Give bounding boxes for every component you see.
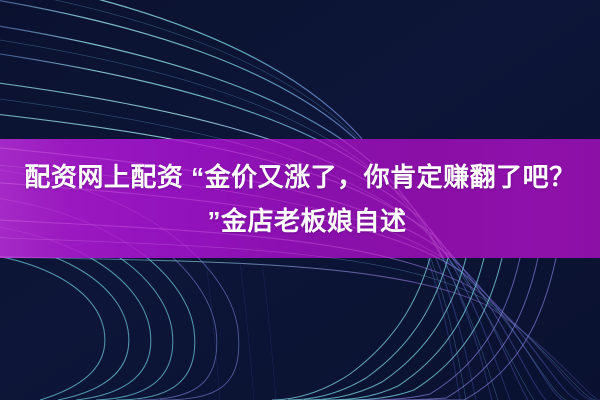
purple-banner-band — [0, 139, 600, 258]
banner-overlay-lines — [0, 139, 600, 258]
banner-image: 配资网上配资 “金价又涨了，你肯定赚翻了吧？ ”金店老板娘自述 — [0, 0, 600, 400]
